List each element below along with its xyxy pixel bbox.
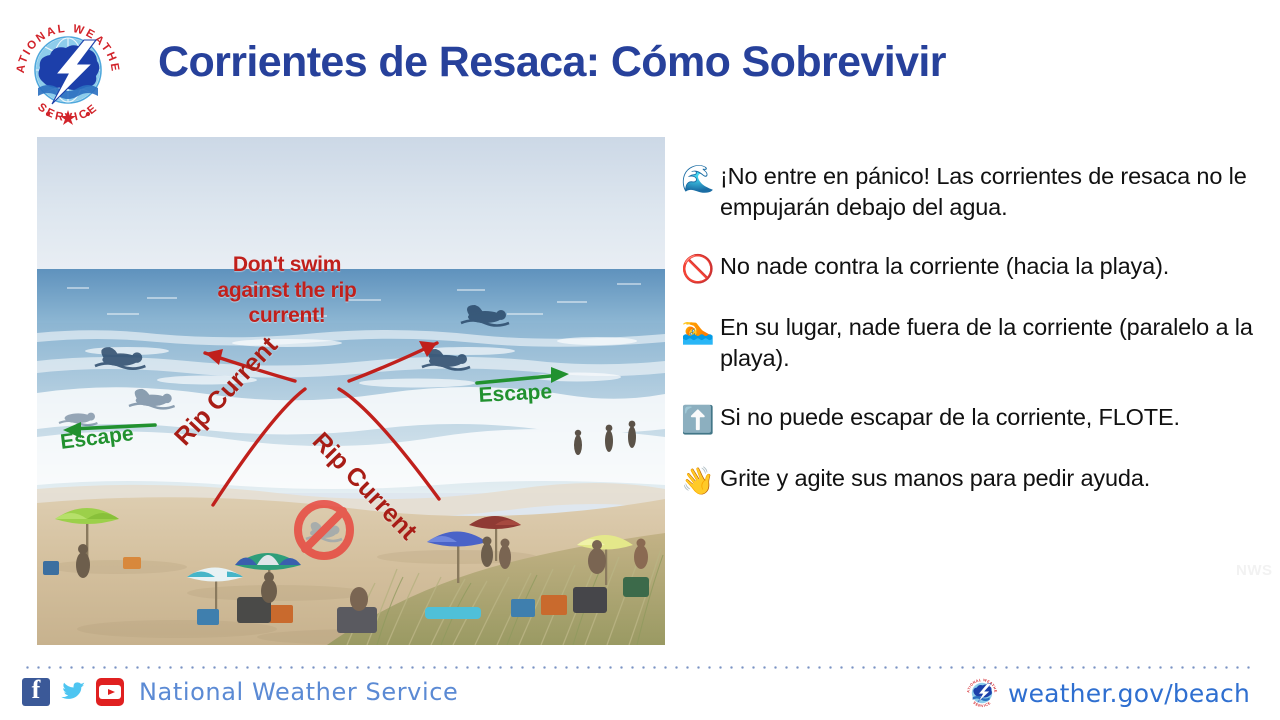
annotation-dont-swim: Don't swim against the rip current! <box>197 252 377 329</box>
annotation-rip-current-right: Rip Current <box>306 427 422 546</box>
twitter-icon[interactable] <box>59 678 87 706</box>
up-arrow-icon: ⬆️ <box>676 401 720 434</box>
youtube-icon[interactable] <box>96 678 124 706</box>
wave-icon: 🌊 <box>676 160 720 193</box>
swimmer-icon: 🏊 <box>676 311 720 344</box>
list-item-text: Grite y agite sus manos para pedir ayuda… <box>720 462 1150 494</box>
page-header: NATIONAL WEATHER SERVICE Corrientes de R… <box>0 0 1280 130</box>
footer-url-text[interactable]: weather.gov/beach <box>1008 679 1250 708</box>
no-entry-icon: 🚫 <box>676 250 720 283</box>
list-item-text: Si no puede escapar de la corriente, FLO… <box>720 401 1180 433</box>
footer-url-group[interactable]: NATIONAL WEATHER SERVICE weather.gov/bea… <box>965 676 1250 710</box>
annotation-escape-right: Escape <box>478 380 553 408</box>
safety-tips-list: 🌊 ¡No entre en pánico! Las corrientes de… <box>676 160 1266 519</box>
footer-social-group: National Weather Service <box>22 678 458 706</box>
nws-seal-small-icon: NATIONAL WEATHER SERVICE <box>965 676 999 710</box>
list-item: ⬆️ Si no puede escapar de la corriente, … <box>676 401 1266 434</box>
annotation-escape-left: Escape <box>59 422 135 455</box>
facebook-icon[interactable] <box>22 678 50 706</box>
annotation-rip-current-left: Rip Current <box>169 331 284 451</box>
waving-hand-icon: 👋 <box>676 462 720 495</box>
list-item: 🌊 ¡No entre en pánico! Las corrientes de… <box>676 160 1266 222</box>
nws-watermark: NWS <box>1236 562 1273 579</box>
list-item: 👋 Grite y agite sus manos para pedir ayu… <box>676 462 1266 495</box>
photo-annotation-layer: Don't swim against the rip current! Rip … <box>37 137 665 645</box>
list-item-text: No nade contra la corriente (hacia la pl… <box>720 250 1169 282</box>
nws-seal-logo: NATIONAL WEATHER SERVICE <box>12 16 124 128</box>
footer-divider <box>22 666 1250 669</box>
footer-agency-name: National Weather Service <box>139 678 458 706</box>
beach-rip-current-photo: Don't swim against the rip current! Rip … <box>37 137 665 645</box>
page-title: Corrientes de Resaca: Cómo Sobrevivir <box>158 38 946 87</box>
list-item-text: ¡No entre en pánico! Las corrientes de r… <box>720 160 1266 222</box>
list-item: 🚫 No nade contra la corriente (hacia la … <box>676 250 1266 283</box>
list-item: 🏊 En su lugar, nade fuera de la corrient… <box>676 311 1266 373</box>
list-item-text: En su lugar, nade fuera de la corriente … <box>720 311 1266 373</box>
